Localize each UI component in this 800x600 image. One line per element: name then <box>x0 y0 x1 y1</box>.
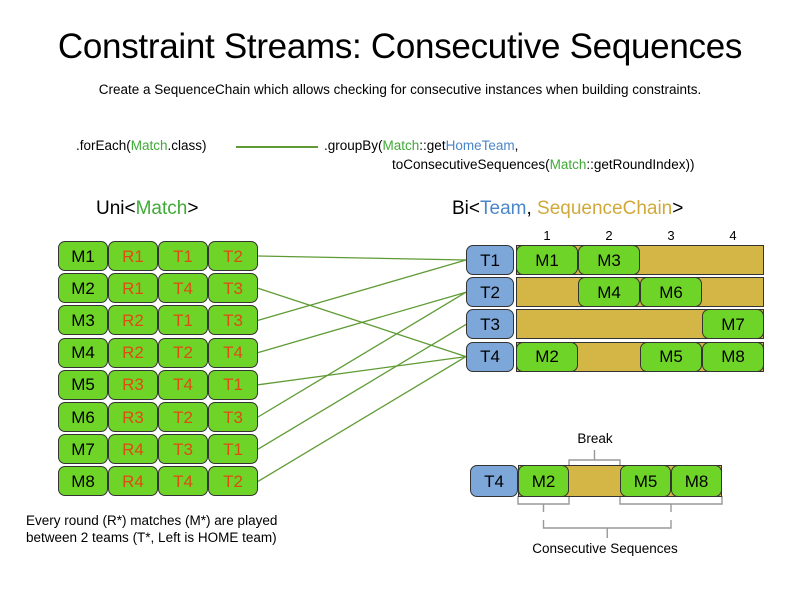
footnote-line-1: Every round (R*) matches (M*) are played <box>26 512 277 529</box>
link-m8-to-t4 <box>258 357 466 482</box>
uni-cell-m8-round[interactable]: R4 <box>108 466 158 496</box>
uni-cell-m8-round-label: R4 <box>122 473 144 490</box>
uni-cell-m7-home-team[interactable]: T3 <box>158 434 208 464</box>
link-m3-to-t1 <box>258 260 466 320</box>
code-toconsecutive-suffix: ::getRoundIndex)) <box>586 157 694 172</box>
uni-cell-m8-away-team-label: T2 <box>223 473 243 490</box>
uni-cell-m5-away-team-label: T1 <box>223 376 243 393</box>
detail-cell-col3[interactable]: M5 <box>620 465 671 497</box>
bi-cell-t2-col3[interactable]: M6 <box>640 277 702 307</box>
detail-cell-col4-label: M8 <box>685 473 709 490</box>
heading-bi-team-sequencechain: Bi<Team, SequenceChain> <box>452 197 683 220</box>
code-groupby-method-highlight: HomeTeam <box>446 138 515 153</box>
code-foreach-suffix: .class) <box>168 138 207 153</box>
uni-cell-m2-away-team[interactable]: T3 <box>208 273 258 303</box>
bi-cell-t4-col3-label: M5 <box>659 348 683 365</box>
heading-uni-suffix: > <box>187 198 198 219</box>
uni-cell-m7-match-label: M7 <box>71 441 95 458</box>
uni-cell-m8-away-team[interactable]: T2 <box>208 466 258 496</box>
bi-cell-t2-col3-label: M6 <box>659 284 683 301</box>
uni-cell-m1-round-label: R1 <box>122 248 144 265</box>
bi-cell-t1-col1-label: M1 <box>535 252 559 269</box>
uni-cell-m7-match[interactable]: M7 <box>58 434 108 464</box>
uni-cell-m5-home-team-label: T4 <box>173 376 193 393</box>
uni-cell-m3-home-team[interactable]: T1 <box>158 305 208 335</box>
uni-cell-m5-home-team[interactable]: T4 <box>158 370 208 400</box>
uni-cell-m2-home-team[interactable]: T4 <box>158 273 208 303</box>
code-foreach: .forEach(Match.class) <box>76 136 207 155</box>
uni-cell-m4-round-label: R2 <box>122 344 144 361</box>
link-m4-to-t2 <box>258 292 466 352</box>
bi-cell-t4-col1[interactable]: M2 <box>516 342 578 372</box>
heading-bi-suffix: > <box>672 198 683 219</box>
bi-team-t1-label: T1 <box>480 252 500 269</box>
bi-cell-t3-col4-label: M7 <box>721 316 745 333</box>
link-m5-to-t4 <box>258 357 466 385</box>
bi-cell-t4-col3[interactable]: M5 <box>640 342 702 372</box>
uni-cell-m1-away-team-label: T2 <box>223 248 243 265</box>
bi-cell-t2-col2[interactable]: M4 <box>578 277 640 307</box>
heading-uni-type: Match <box>136 198 188 219</box>
uni-cell-m6-round[interactable]: R3 <box>108 402 158 432</box>
heading-bi-prefix: Bi< <box>452 198 480 219</box>
uni-cell-m7-away-team[interactable]: T1 <box>208 434 258 464</box>
uni-cell-m6-match-label: M6 <box>71 409 95 426</box>
heading-uni-match: Uni<Match> <box>96 197 198 220</box>
uni-cell-m1-home-team[interactable]: T1 <box>158 241 208 271</box>
uni-cell-m3-round-label: R2 <box>122 312 144 329</box>
uni-cell-m1-away-team[interactable]: T2 <box>208 241 258 271</box>
link-m6-to-t2 <box>258 292 466 417</box>
uni-cell-m2-match[interactable]: M2 <box>58 273 108 303</box>
uni-cell-m4-away-team-label: T4 <box>223 344 243 361</box>
uni-cell-m8-match-label: M8 <box>71 473 95 490</box>
bi-cell-t4-col4[interactable]: M8 <box>702 342 764 372</box>
code-connector-line <box>236 146 318 148</box>
bi-column-header-4: 4 <box>702 228 764 243</box>
uni-cell-m8-match[interactable]: M8 <box>58 466 108 496</box>
link-m7-to-t3 <box>258 324 466 449</box>
uni-cell-m4-away-team[interactable]: T4 <box>208 338 258 368</box>
sequence-brace-second <box>620 496 722 512</box>
uni-cell-m4-home-team-label: T2 <box>173 344 193 361</box>
uni-cell-m2-home-team-label: T4 <box>173 280 193 297</box>
code-groupby-method-prefix: ::get <box>419 138 445 153</box>
bi-column-header-3: 3 <box>640 228 702 243</box>
uni-cell-m6-match[interactable]: M6 <box>58 402 108 432</box>
uni-cell-m3-away-team[interactable]: T3 <box>208 305 258 335</box>
uni-cell-m3-match-label: M3 <box>71 312 95 329</box>
code-toconsecutive-prefix: toConsecutiveSequences( <box>392 157 550 172</box>
bi-team-t4-label: T4 <box>480 348 500 365</box>
uni-cell-m3-match[interactable]: M3 <box>58 305 108 335</box>
uni-cell-m8-home-team[interactable]: T4 <box>158 466 208 496</box>
uni-cell-m5-round[interactable]: R3 <box>108 370 158 400</box>
break-label: Break <box>535 430 655 447</box>
bi-team-t1[interactable]: T1 <box>466 245 514 275</box>
uni-cell-m3-away-team-label: T3 <box>223 312 243 329</box>
bi-cell-t1-col1[interactable]: M1 <box>516 245 578 275</box>
uni-cell-m6-away-team-label: T3 <box>223 409 243 426</box>
consecutive-sequences-label: Consecutive Sequences <box>480 540 730 557</box>
detail-cell-col3-label: M5 <box>634 473 658 490</box>
consecutive-sequences-brace <box>544 520 672 538</box>
heading-bi-separator: , <box>526 198 537 219</box>
uni-cell-m1-home-team-label: T1 <box>173 248 193 265</box>
uni-cell-m7-away-team-label: T1 <box>223 441 243 458</box>
uni-cell-m8-home-team-label: T4 <box>173 473 193 490</box>
uni-cell-m5-match[interactable]: M5 <box>58 370 108 400</box>
slide-canvas: Constraint Streams: Consecutive Sequence… <box>0 0 800 600</box>
link-m2-to-t4 <box>258 288 466 356</box>
code-groupby-prefix: .groupBy( <box>324 138 383 153</box>
uni-cell-m2-round[interactable]: R1 <box>108 273 158 303</box>
detail-cell-col1[interactable]: M2 <box>518 465 569 497</box>
bi-team-t3[interactable]: T3 <box>466 309 514 339</box>
uni-cell-m4-match-label: M4 <box>71 344 95 361</box>
uni-cell-m7-home-team-label: T3 <box>173 441 193 458</box>
uni-cell-m1-match-label: M1 <box>71 248 95 265</box>
uni-cell-m5-match-label: M5 <box>71 376 95 393</box>
bi-team-t3-label: T3 <box>480 316 500 333</box>
uni-cell-m5-round-label: R3 <box>122 376 144 393</box>
page-title: Constraint Streams: Consecutive Sequence… <box>0 26 800 68</box>
uni-cell-m4-round[interactable]: R2 <box>108 338 158 368</box>
uni-cell-m1-round[interactable]: R1 <box>108 241 158 271</box>
uni-cell-m6-away-team[interactable]: T3 <box>208 402 258 432</box>
heading-bi-type2: SequenceChain <box>537 198 672 219</box>
detail-team-t4-label: T4 <box>484 473 504 490</box>
uni-cell-m2-round-label: R1 <box>122 280 144 297</box>
uni-cell-m4-match[interactable]: M4 <box>58 338 108 368</box>
uni-cell-m1-match[interactable]: M1 <box>58 241 108 271</box>
uni-cell-m5-away-team[interactable]: T1 <box>208 370 258 400</box>
bi-team-t2[interactable]: T2 <box>466 277 514 307</box>
bi-cell-t1-col2-label: M3 <box>597 252 621 269</box>
footnote: Every round (R*) matches (M*) are played… <box>26 512 277 546</box>
uni-cell-m4-home-team[interactable]: T2 <box>158 338 208 368</box>
uni-cell-m7-round[interactable]: R4 <box>108 434 158 464</box>
bi-cell-t4-col1-label: M2 <box>535 348 559 365</box>
detail-cell-col4[interactable]: M8 <box>671 465 722 497</box>
detail-team-t4[interactable]: T4 <box>470 465 518 497</box>
bi-cell-t3-col4[interactable]: M7 <box>702 309 764 339</box>
uni-cell-m3-home-team-label: T1 <box>173 312 193 329</box>
detail-cell-col1-label: M2 <box>532 473 556 490</box>
uni-cell-m6-home-team[interactable]: T2 <box>158 402 208 432</box>
bi-column-header-1: 1 <box>516 228 578 243</box>
uni-cell-m2-away-team-label: T3 <box>223 280 243 297</box>
uni-cell-m6-home-team-label: T2 <box>173 409 193 426</box>
uni-cell-m7-round-label: R4 <box>122 441 144 458</box>
code-groupby-line1: .groupBy(Match::getHomeTeam, <box>324 136 518 155</box>
uni-cell-m3-round[interactable]: R2 <box>108 305 158 335</box>
heading-uni-prefix: Uni< <box>96 198 136 219</box>
bi-column-header-2: 2 <box>578 228 640 243</box>
bi-cell-t2-col2-label: M4 <box>597 284 621 301</box>
uni-cell-m6-round-label: R3 <box>122 409 144 426</box>
footnote-line-2: between 2 teams (T*, Left is HOME team) <box>26 529 277 546</box>
bi-team-t4[interactable]: T4 <box>466 342 514 372</box>
heading-bi-type1: Team <box>480 198 526 219</box>
link-m1-to-t1 <box>258 256 466 260</box>
sequence-brace-first <box>518 496 569 512</box>
code-foreach-prefix: .forEach( <box>76 138 131 153</box>
bi-cell-t4-col4-label: M8 <box>721 348 745 365</box>
code-toconsecutive-type: Match <box>550 157 587 172</box>
page-subtitle: Create a SequenceChain which allows chec… <box>0 81 800 98</box>
code-foreach-type: Match <box>131 138 168 153</box>
bi-team-t2-label: T2 <box>480 284 500 301</box>
bi-cell-t1-col2[interactable]: M3 <box>578 245 640 275</box>
code-groupby-suffix: , <box>515 138 519 153</box>
code-groupby-line2: toConsecutiveSequences(Match::getRoundIn… <box>392 155 694 174</box>
code-groupby-type: Match <box>383 138 420 153</box>
uni-cell-m2-match-label: M2 <box>71 280 95 297</box>
